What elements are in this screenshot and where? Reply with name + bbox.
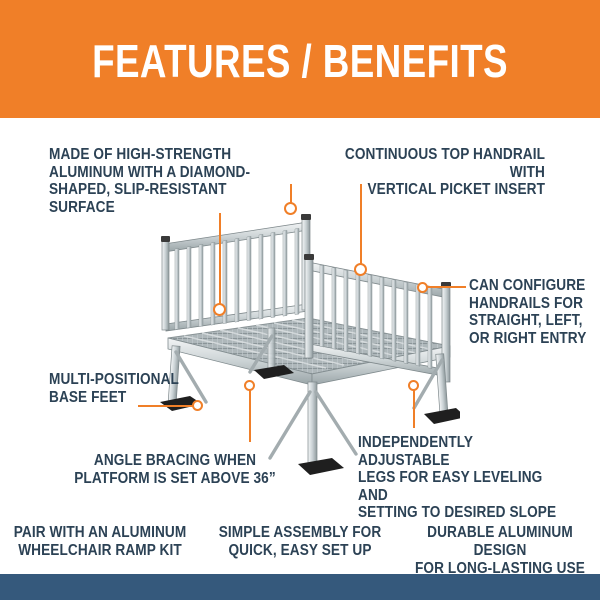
callout-angle-bracing: ANGLE BRACING WHEN PLATFORM IS SET ABOVE… (74, 452, 276, 487)
callout-base-feet: MULTI-POSITIONAL BASE FEET (49, 371, 190, 406)
bottom-benefit-2: SIMPLE ASSEMBLY FOR QUICK, EASY SET UP (212, 524, 388, 574)
marker-adjustable-legs (408, 380, 419, 391)
connector-line-material (219, 213, 221, 306)
callout-configure: CAN CONFIGURE HANDRAILS FOR STRAIGHT, LE… (469, 277, 588, 347)
marker-angle-bracing (244, 380, 255, 391)
connector-line-configure (424, 286, 466, 288)
infographic-page: FEATURES / BENEFITS (0, 0, 600, 600)
connector-line-adjustable-legs (413, 390, 415, 428)
connector-line-angle-bracing (249, 390, 251, 442)
footer-bar (0, 574, 600, 600)
bottom-benefit-1: PAIR WITH AN ALUMINUM WHEELCHAIR RAMP KI… (12, 524, 188, 574)
handrail-left-back (161, 214, 311, 331)
callout-material: MADE OF HIGH-STRENGTH ALUMINUM WITH A DI… (49, 146, 265, 216)
connector-line-handrail-left (290, 184, 292, 204)
marker-configure (417, 282, 428, 293)
callout-handrail: CONTINUOUS TOP HANDRAIL WITH VERTICAL PI… (316, 146, 545, 199)
bottom-benefits-row: PAIR WITH AN ALUMINUM WHEELCHAIR RAMP KI… (0, 524, 600, 574)
marker-handrail-right (354, 263, 367, 276)
callout-adjustable-legs: INDEPENDENTLY ADJUSTABLE LEGS FOR EASY L… (358, 434, 565, 522)
marker-material (213, 303, 226, 316)
bottom-benefit-3: DURABLE ALUMINUM DESIGN FOR LONG-LASTING… (412, 524, 588, 574)
marker-handrail-left (284, 202, 297, 215)
marker-base-feet (192, 400, 203, 411)
page-title: FEATURES / BENEFITS (60, 36, 540, 86)
